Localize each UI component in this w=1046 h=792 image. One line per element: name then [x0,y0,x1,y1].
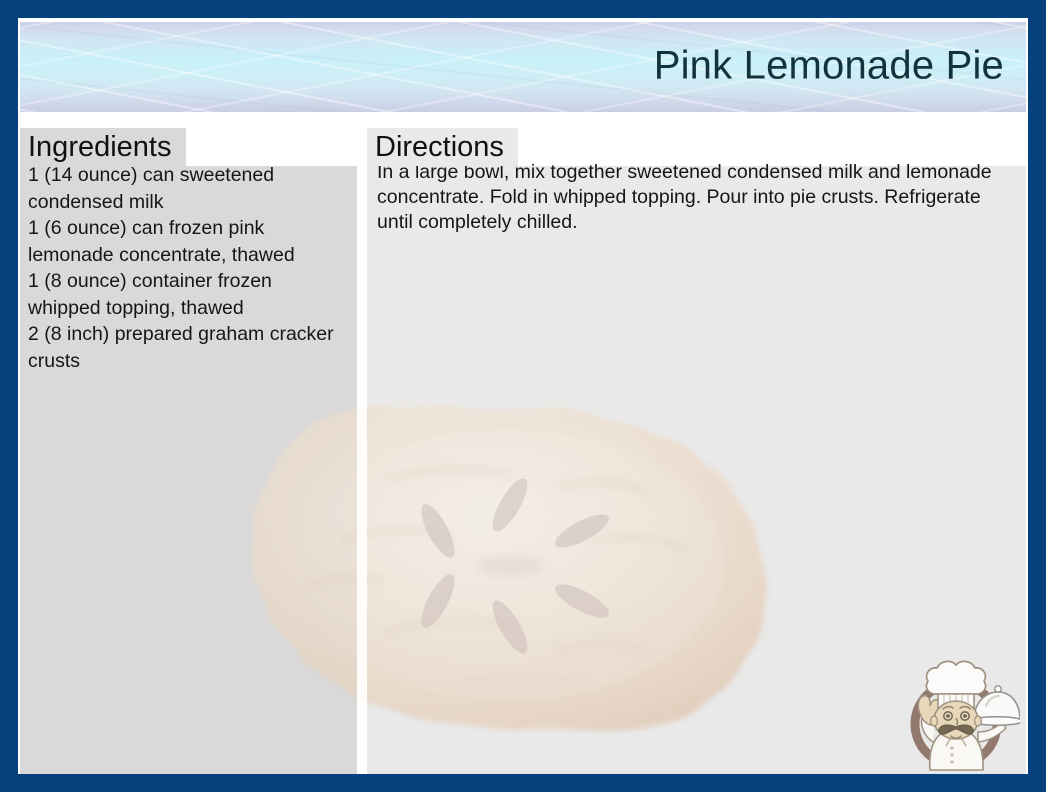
recipe-card: Pink Lemonade Pie Ingredients 1 (14 ounc… [0,0,1046,792]
list-item: 1 (14 ounce) can sweetened condensed mil… [28,162,339,215]
list-item: 1 (6 ounce) can frozen pink lemonade con… [28,215,339,268]
chef-mascot-logo [898,654,1020,772]
tab-directions[interactable]: Directions [367,128,518,166]
content-area: Ingredients 1 (14 ounce) can sweetened c… [20,128,1026,792]
list-item: 1 (8 ounce) container frozen whipped top… [28,268,339,321]
page-title: Pink Lemonade Pie [654,44,1004,89]
tab-ingredients[interactable]: Ingredients [20,128,186,166]
ingredients-panel: Ingredients 1 (14 ounce) can sweetened c… [20,128,357,792]
list-item: 2 (8 inch) prepared graham cracker crust… [28,321,339,374]
panel-divider [357,128,367,792]
header-banner: Pink Lemonade Pie [20,22,1026,112]
